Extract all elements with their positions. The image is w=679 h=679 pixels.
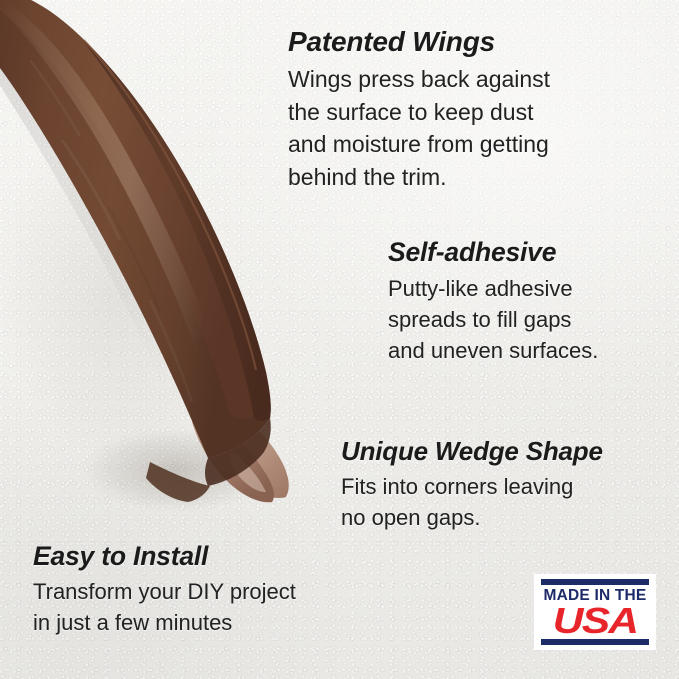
feature-body-line: and uneven surfaces. [388, 335, 678, 366]
feature-patented-wings: Patented Wings Wings press back against … [288, 26, 618, 194]
feature-body-line: Wings press back against [288, 63, 618, 96]
usa-badge-top-bar [541, 579, 649, 585]
usa-badge-line2: USA [531, 605, 658, 637]
feature-unique-wedge-shape: Unique Wedge Shape Fits into corners lea… [341, 436, 679, 533]
feature-body-line: behind the trim. [288, 161, 618, 194]
feature-title-self-adhesive: Self-adhesive [388, 237, 678, 268]
feature-body-line: no open gaps. [341, 502, 679, 533]
product-infographic: Patented Wings Wings press back against … [0, 0, 679, 679]
feature-body-line: and moisture from getting [288, 128, 618, 161]
feature-body-line: Fits into corners leaving [341, 471, 679, 502]
feature-body-line: spreads to fill gaps [388, 304, 678, 335]
feature-body-patented-wings: Wings press back against the surface to … [288, 63, 618, 194]
feature-body-unique-wedge-shape: Fits into corners leaving no open gaps. [341, 471, 679, 533]
feature-easy-to-install: Easy to Install Transform your DIY proje… [33, 541, 363, 638]
feature-body-line: Transform your DIY project [33, 576, 363, 607]
feature-body-easy-to-install: Transform your DIY project in just a few… [33, 576, 363, 638]
feature-title-easy-to-install: Easy to Install [33, 541, 363, 572]
feature-body-line: the surface to keep dust [288, 96, 618, 129]
feature-title-unique-wedge-shape: Unique Wedge Shape [341, 436, 679, 467]
feature-title-patented-wings: Patented Wings [288, 26, 618, 58]
feature-self-adhesive: Self-adhesive Putty-like adhesive spread… [388, 237, 678, 367]
feature-body-self-adhesive: Putty-like adhesive spreads to fill gaps… [388, 273, 678, 367]
made-in-usa-badge: MADE IN THE USA [534, 574, 656, 650]
feature-body-line: Putty-like adhesive [388, 273, 678, 304]
feature-body-line: in just a few minutes [33, 607, 363, 638]
